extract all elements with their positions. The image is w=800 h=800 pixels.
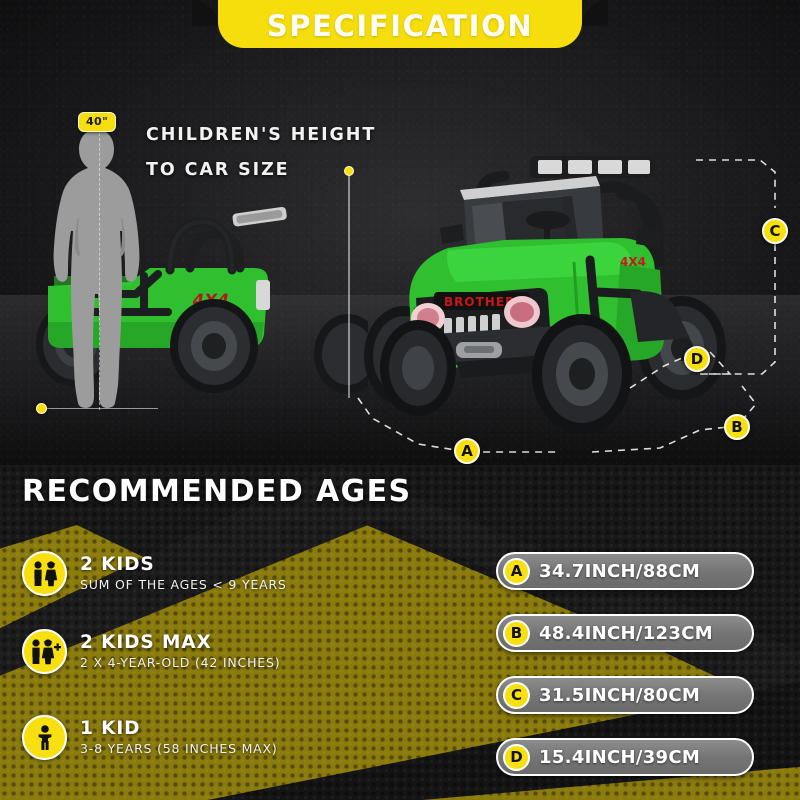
measurement-value-a: 34.7INCH/88CM [539, 561, 700, 582]
ride-on-car-front-view: 4X4 BROTHERS [352, 142, 764, 462]
measurement-value-c: 31.5INCH/80CM [539, 685, 700, 706]
hero-headline-line2: TO CAR SIZE [146, 153, 376, 188]
hero-headline: CHILDREN'S HEIGHT TO CAR SIZE [146, 118, 376, 188]
specification-infographic: 40" CHILDREN'S HEIGHT TO CAR SIZE [0, 0, 800, 800]
side-top-dot [344, 166, 354, 176]
age-title: 2 KIDS MAX [80, 632, 280, 654]
hero-section: 40" CHILDREN'S HEIGHT TO CAR SIZE [0, 0, 800, 465]
measurement-pill-d: D 15.4INCH/39CM [496, 738, 754, 776]
front-4x4-badge: 4X4 [620, 255, 646, 269]
banner-notch-left [192, 0, 218, 26]
age-subtitle: 3-8 YEARS (58 INCHES MAX) [80, 740, 278, 758]
measurement-pill-b: B 48.4INCH/123CM [496, 614, 754, 652]
measurement-letter-c: C [503, 682, 530, 709]
age-row-two-kids: 2 KIDS SUM OF THE AGES < 9 YEARS [22, 551, 287, 596]
specification-banner: SPECIFICATION [218, 0, 582, 48]
height-baseline-dot [36, 403, 47, 414]
two-children-plus-icon [22, 629, 67, 674]
measurement-letter-a: A [503, 558, 530, 585]
age-subtitle: SUM OF THE AGES < 9 YEARS [80, 576, 287, 594]
dimension-marker-c[interactable]: C [762, 218, 788, 244]
one-child-icon [22, 715, 67, 760]
dimension-marker-d[interactable]: D [684, 346, 710, 372]
hero-headline-line1: CHILDREN'S HEIGHT [146, 118, 376, 153]
dimension-marker-a[interactable]: A [454, 438, 480, 464]
two-children-icon [22, 551, 67, 596]
height-badge: 40" [78, 112, 116, 132]
measurement-value-d: 15.4INCH/39CM [539, 747, 700, 768]
measurement-pill-c: C 31.5INCH/80CM [496, 676, 754, 714]
height-dashed-line [99, 128, 100, 410]
measurement-pill-a: A 34.7INCH/88CM [496, 552, 754, 590]
age-title: 1 KID [80, 718, 278, 740]
dimension-marker-b[interactable]: B [724, 414, 750, 440]
age-row-two-kids-max: 2 KIDS MAX 2 X 4-YEAR-OLD (42 INCHES) [22, 629, 280, 674]
age-row-one-kid: 1 KID 3-8 YEARS (58 INCHES MAX) [22, 715, 278, 760]
child-silhouette [52, 126, 148, 410]
section-title: RECOMMENDED AGES [22, 474, 412, 509]
age-subtitle: 2 X 4-YEAR-OLD (42 INCHES) [80, 654, 280, 672]
measurement-letter-d: D [503, 744, 530, 771]
measurement-value-b: 48.4INCH/123CM [539, 623, 713, 644]
banner-notch-right [582, 0, 608, 26]
banner-title: SPECIFICATION [267, 9, 533, 43]
height-baseline [40, 408, 158, 409]
age-title: 2 KIDS [80, 554, 287, 576]
measurement-letter-b: B [503, 620, 530, 647]
